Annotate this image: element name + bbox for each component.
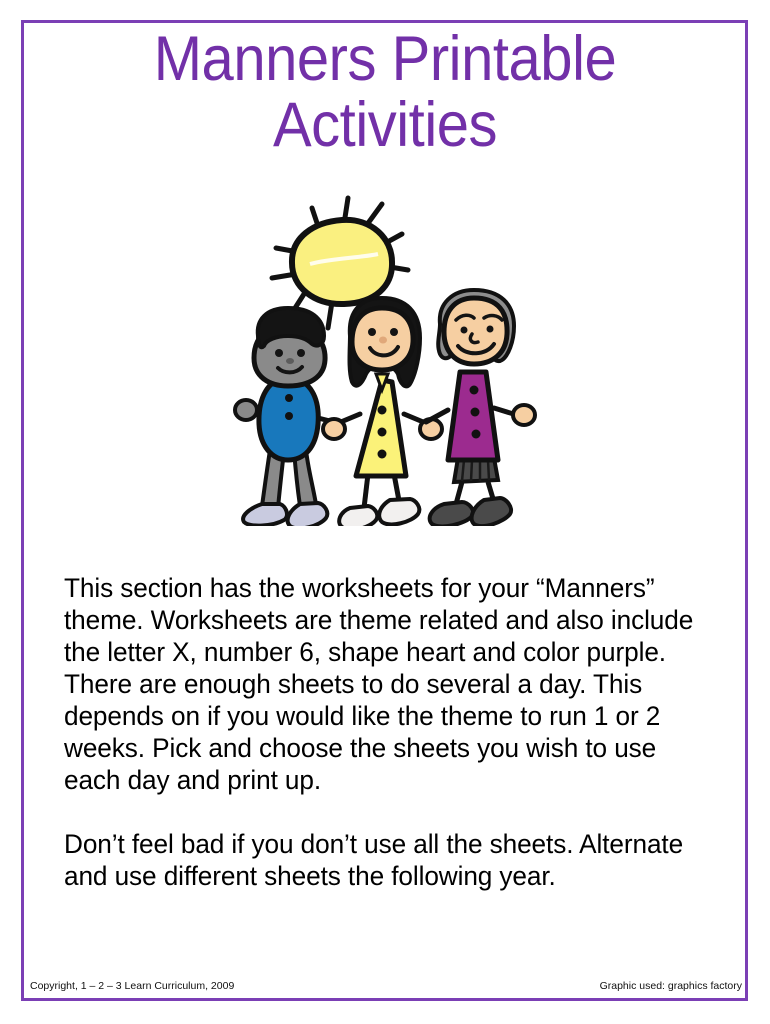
page-footer: Copyright, 1 – 2 – 3 Learn Curriculum, 2…: [30, 980, 742, 993]
paragraph-2: Don’t feel bad if you don’t use all the …: [64, 828, 704, 892]
page-title-line-1: Manners Printable: [68, 26, 703, 92]
page-title-line-2: Activities: [68, 92, 703, 158]
page-title: Manners Printable Activities: [40, 26, 730, 158]
sun-body: [292, 220, 392, 304]
body-text: This section has the worksheets for your…: [64, 572, 724, 892]
clipart-illustration: [232, 186, 544, 526]
footer-graphic-credit: Graphic used: graphics factory: [600, 980, 742, 993]
footer-copyright: Copyright, 1 – 2 – 3 Learn Curriculum, 2…: [30, 980, 234, 993]
figure-girl: [323, 298, 442, 526]
figure-boy: [235, 308, 342, 526]
paragraph-1: This section has the worksheets for your…: [64, 572, 704, 796]
figure-grandmother: [426, 290, 535, 526]
printable-page: Manners Printable Activities: [0, 0, 770, 1024]
